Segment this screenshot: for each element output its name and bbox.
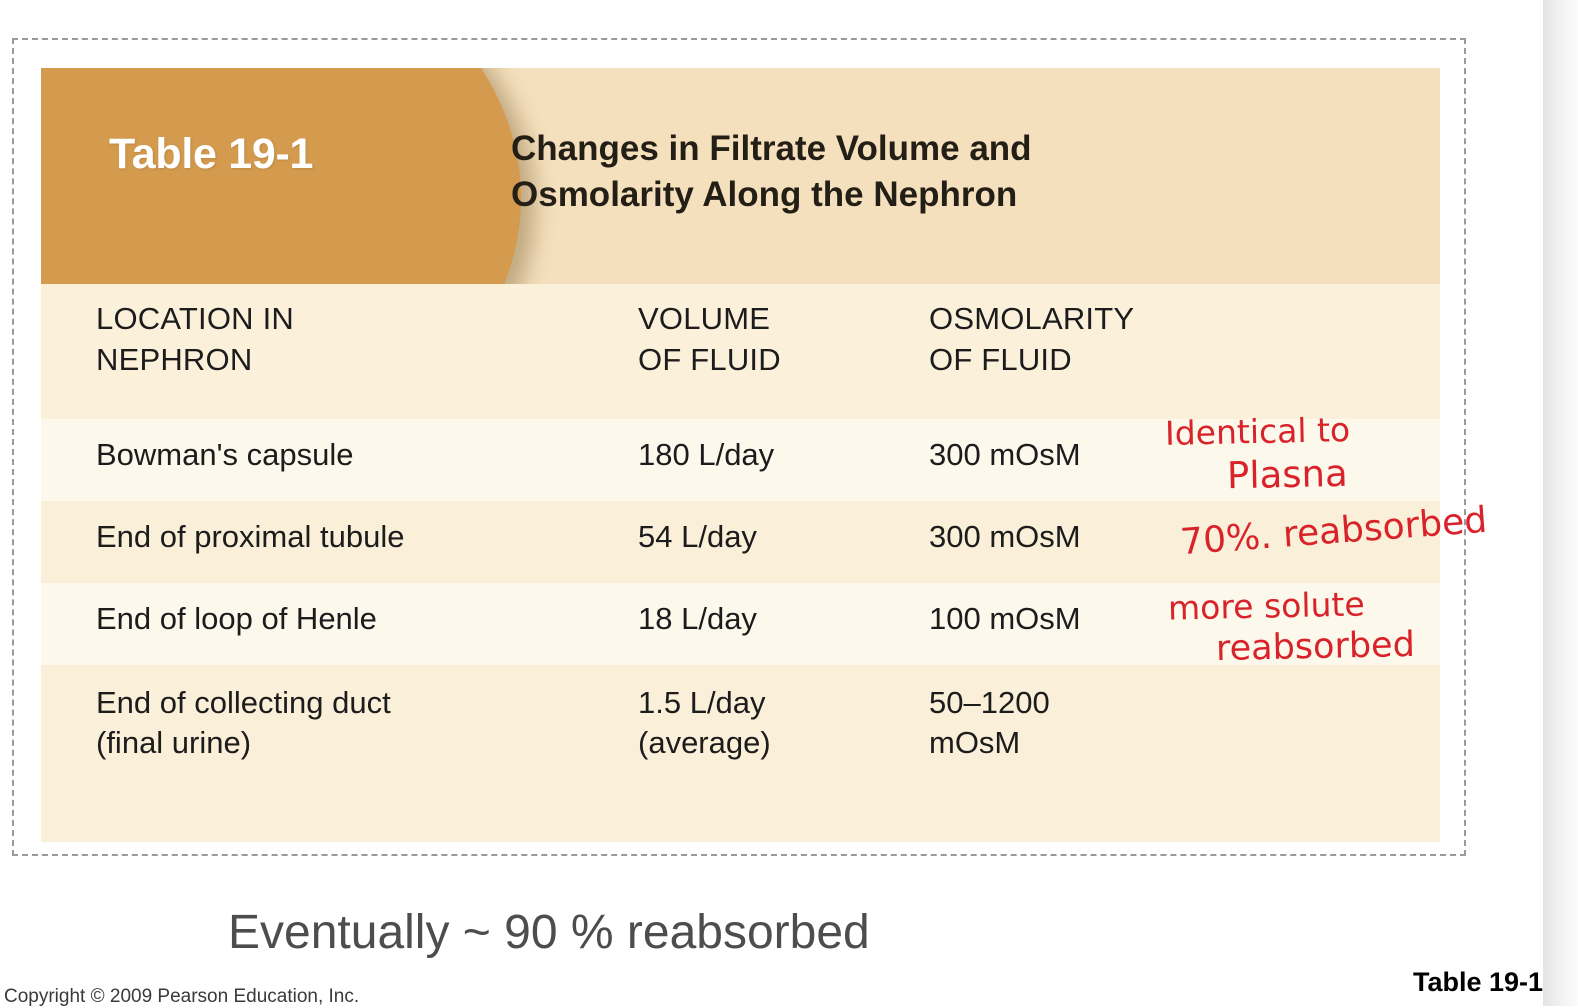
row-2-location-line-1: End of proximal tubule (96, 517, 404, 557)
row-4-osmolarity-line-2: mOsM (929, 723, 1050, 763)
row-4-location-line-1: End of collecting duct (96, 683, 391, 723)
row-4-volume: 1.5 L/day (average) (638, 683, 771, 762)
row-4-osmolarity-line-1: 50–1200 (929, 683, 1050, 723)
row-3-osmolarity-line-1: 100 mOsM (929, 599, 1081, 639)
row-1-location: Bowman's capsule (96, 435, 354, 475)
table-title: Changes in Filtrate Volume and Osmolarit… (511, 126, 1271, 218)
row-3-location-line-1: End of loop of Henle (96, 599, 377, 639)
table-number-label: Table 19-1 (109, 130, 313, 179)
column-header-volume-line-2: OF FLUID (638, 339, 781, 380)
table-row: End of collecting duct (final urine) 1.5… (41, 665, 1440, 842)
row-2-osmolarity: 300 mOsM (929, 517, 1081, 557)
table-row: Bowman's capsule 180 L/day 300 mOsM (41, 419, 1440, 501)
table-figure: Table 19-1 Changes in Filtrate Volume an… (41, 68, 1440, 842)
row-1-volume: 180 L/day (638, 435, 774, 475)
column-header-osmolarity-line-2: OF FLUID (929, 339, 1134, 380)
row-3-volume: 18 L/day (638, 599, 757, 639)
row-3-osmolarity: 100 mOsM (929, 599, 1081, 639)
table-column-header-row: LOCATION IN NEPHRON VOLUME OF FLUID OSMO… (41, 284, 1440, 419)
row-4-location-line-2: (final urine) (96, 723, 391, 763)
row-1-volume-line-1: 180 L/day (638, 435, 774, 475)
row-4-osmolarity: 50–1200 mOsM (929, 683, 1050, 762)
row-2-volume-line-1: 54 L/day (638, 517, 757, 557)
table-header-band: Table 19-1 Changes in Filtrate Volume an… (41, 68, 1440, 284)
table-title-line-2: Osmolarity Along the Nephron (511, 172, 1271, 218)
column-header-location: LOCATION IN NEPHRON (96, 298, 294, 380)
row-2-volume: 54 L/day (638, 517, 757, 557)
row-2-osmolarity-line-1: 300 mOsM (929, 517, 1081, 557)
column-header-volume: VOLUME OF FLUID (638, 298, 781, 380)
table-row: End of loop of Henle 18 L/day 100 mOsM (41, 583, 1440, 665)
column-header-volume-line-1: VOLUME (638, 298, 781, 339)
row-2-location: End of proximal tubule (96, 517, 404, 557)
column-header-osmolarity: OSMOLARITY OF FLUID (929, 298, 1134, 380)
row-3-volume-line-1: 18 L/day (638, 599, 757, 639)
row-1-osmolarity: 300 mOsM (929, 435, 1081, 475)
row-4-location: End of collecting duct (final urine) (96, 683, 391, 762)
slide-page: Table 19-1 Changes in Filtrate Volume an… (0, 0, 1543, 1006)
table-row: End of proximal tubule 54 L/day 300 mOsM (41, 501, 1440, 583)
column-header-location-line-2: NEPHRON (96, 339, 294, 380)
page-right-edge-shadow (1543, 0, 1578, 1006)
table-title-line-1: Changes in Filtrate Volume and (511, 126, 1271, 172)
slide-caption-eventually-reabsorbed: Eventually ~ 90 % reabsorbed (228, 905, 870, 960)
row-1-osmolarity-line-1: 300 mOsM (929, 435, 1081, 475)
bottom-right-table-label: Table 19-1 (1413, 967, 1543, 998)
row-4-volume-line-1: 1.5 L/day (638, 683, 771, 723)
copyright-notice: Copyright © 2009 Pearson Education, Inc. (4, 986, 359, 1008)
column-header-osmolarity-line-1: OSMOLARITY (929, 298, 1134, 339)
row-3-location: End of loop of Henle (96, 599, 377, 639)
row-4-volume-line-2: (average) (638, 723, 771, 763)
column-header-location-line-1: LOCATION IN (96, 298, 294, 339)
row-1-location-line-1: Bowman's capsule (96, 435, 354, 475)
